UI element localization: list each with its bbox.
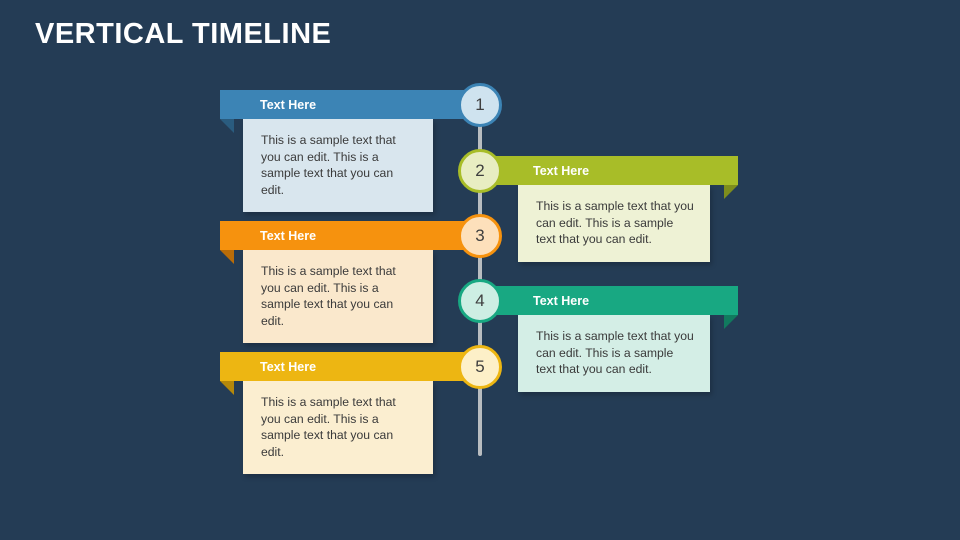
item-ribbon[interactable]: Text Here — [220, 221, 482, 250]
node-number: 2 — [475, 161, 484, 181]
page-title: VERTICAL TIMELINE — [35, 18, 331, 51]
item-ribbon[interactable]: Text Here — [220, 90, 482, 119]
timeline-node-4[interactable]: 4 — [458, 279, 502, 323]
timeline-item: This is a sample text that you can edit.… — [0, 352, 960, 472]
item-ribbon[interactable]: Text Here — [478, 156, 738, 185]
node-number: 3 — [475, 226, 484, 246]
node-number: 4 — [475, 291, 484, 311]
item-heading: Text Here — [260, 98, 316, 112]
ribbon-fold — [220, 119, 234, 133]
item-body-panel: This is a sample text that you can edit.… — [243, 381, 433, 474]
ribbon-fold — [724, 315, 738, 329]
timeline-node-2[interactable]: 2 — [458, 149, 502, 193]
ribbon-fold — [220, 250, 234, 264]
item-heading: Text Here — [260, 360, 316, 374]
ribbon-fold — [220, 381, 234, 395]
node-number: 5 — [475, 357, 484, 377]
item-heading: Text Here — [533, 294, 589, 308]
timeline-node-3[interactable]: 3 — [458, 214, 502, 258]
item-heading: Text Here — [533, 164, 589, 178]
node-number: 1 — [475, 95, 484, 115]
slide-canvas: VERTICAL TIMELINE This is a sample text … — [0, 0, 960, 540]
item-heading: Text Here — [260, 229, 316, 243]
ribbon-fold — [724, 185, 738, 199]
item-ribbon[interactable]: Text Here — [478, 286, 738, 315]
timeline-node-5[interactable]: 5 — [458, 345, 502, 389]
item-ribbon[interactable]: Text Here — [220, 352, 482, 381]
timeline-node-1[interactable]: 1 — [458, 83, 502, 127]
